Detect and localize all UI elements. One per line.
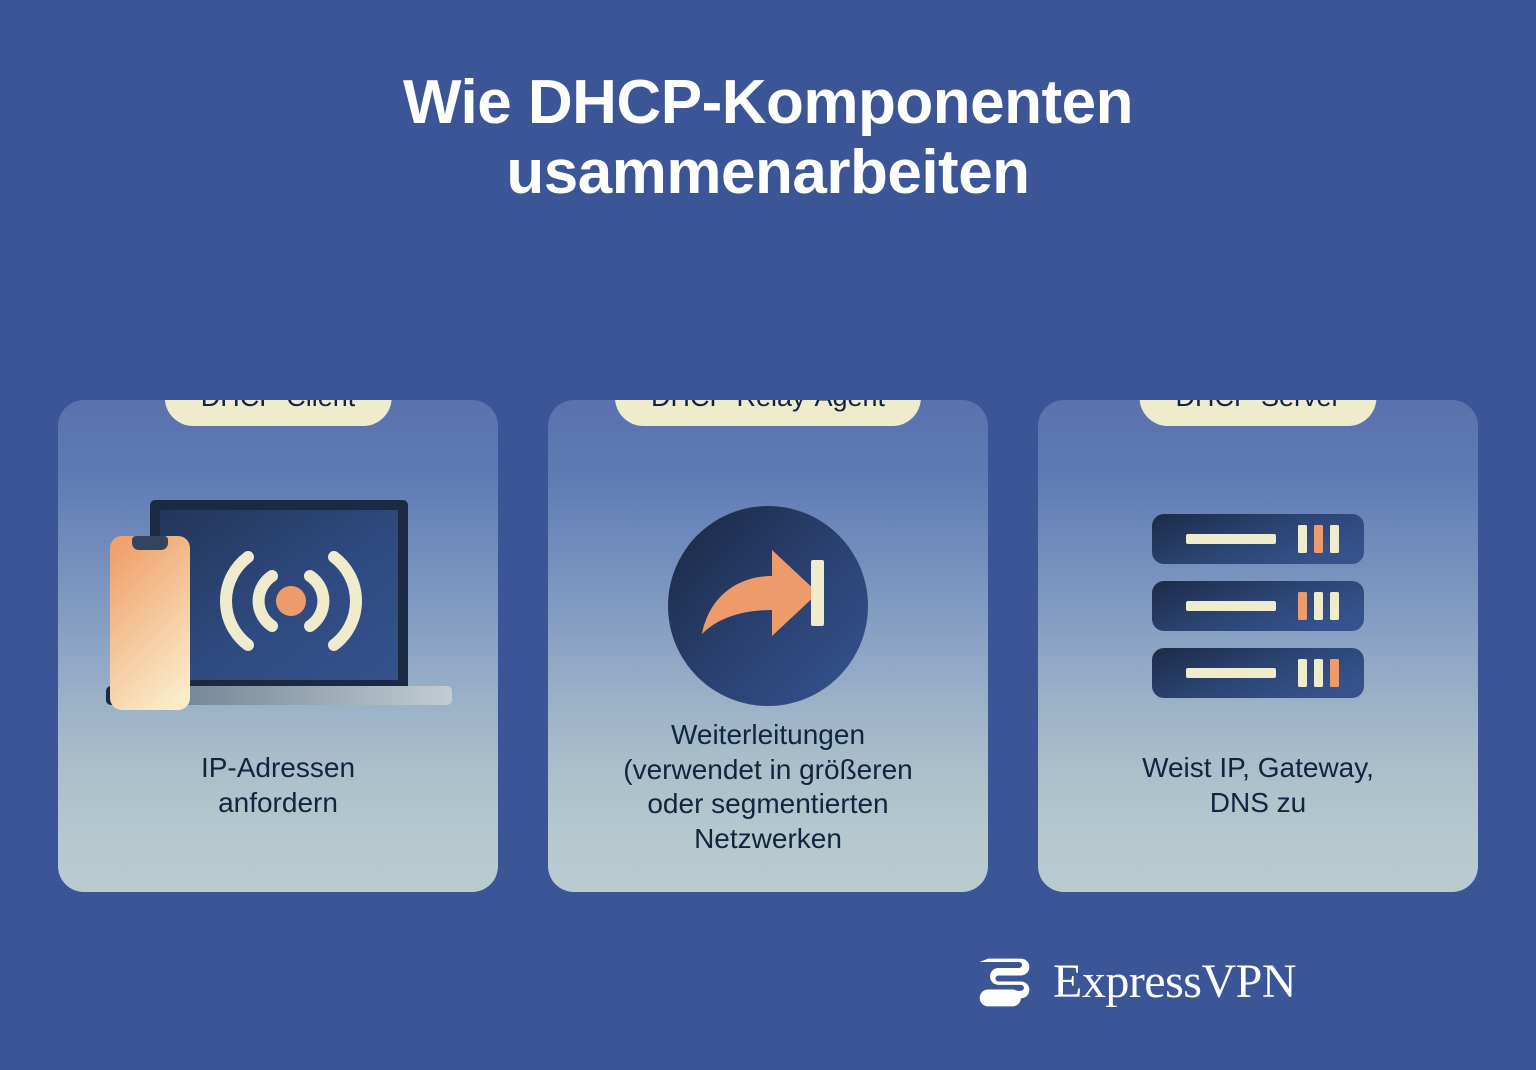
caption-line: IP-Adressen [84,751,472,785]
art-dhcp-client [58,486,498,726]
card-dhcp-server: DHCP-Server [1038,400,1478,892]
page-title: Wie DHCP-Komponenten usammenarbeiten [0,68,1536,208]
brand-logo: ExpressVPN [975,952,1296,1012]
card-dhcp-relay-agent: DHCP-Relay-Agent [548,400,988,892]
infographic-root: Wie DHCP-Komponenten usammenarbeiten DHC… [0,0,1536,1070]
caption-dhcp-server: Weist IP, Gateway, DNS zu [1038,751,1478,820]
title-line-1: Wie DHCP-Komponenten [0,68,1536,138]
caption-line: anfordern [84,786,472,820]
server-stack-icon [1148,510,1368,702]
art-dhcp-relay-agent [548,486,988,726]
caption-dhcp-relay-agent: Weiterleitungen (verwendet in größeren o… [548,718,988,856]
card-pill-label-relay: DHCP-Relay-Agent [615,400,921,426]
laptop-phone-wifi-icon [98,494,458,719]
caption-line: Netzwerken [574,822,962,856]
caption-line: Weist IP, Gateway, [1064,751,1452,785]
card-pill-label-client: DHCP-Client [165,400,392,426]
caption-line: DNS zu [1064,786,1452,820]
caption-line: (verwendet in größeren [574,753,962,787]
component-cards-row: DHCP-Client [58,400,1478,892]
card-pill-label-server: DHCP-Server [1139,400,1376,426]
forward-arrow-circle-icon [668,506,868,706]
caption-line: oder segmentierten [574,787,962,821]
card-dhcp-client: DHCP-Client [58,400,498,892]
brand-wordmark: ExpressVPN [1053,958,1296,1006]
title-line-2: usammenarbeiten [0,138,1536,208]
expressvpn-logo-mark [975,952,1035,1012]
caption-dhcp-client: IP-Adressen anfordern [58,751,498,820]
server-row [1152,581,1364,631]
caption-line: Weiterleitungen [574,718,962,752]
art-dhcp-server [1038,486,1478,726]
server-row [1152,648,1364,698]
server-row [1152,514,1364,564]
